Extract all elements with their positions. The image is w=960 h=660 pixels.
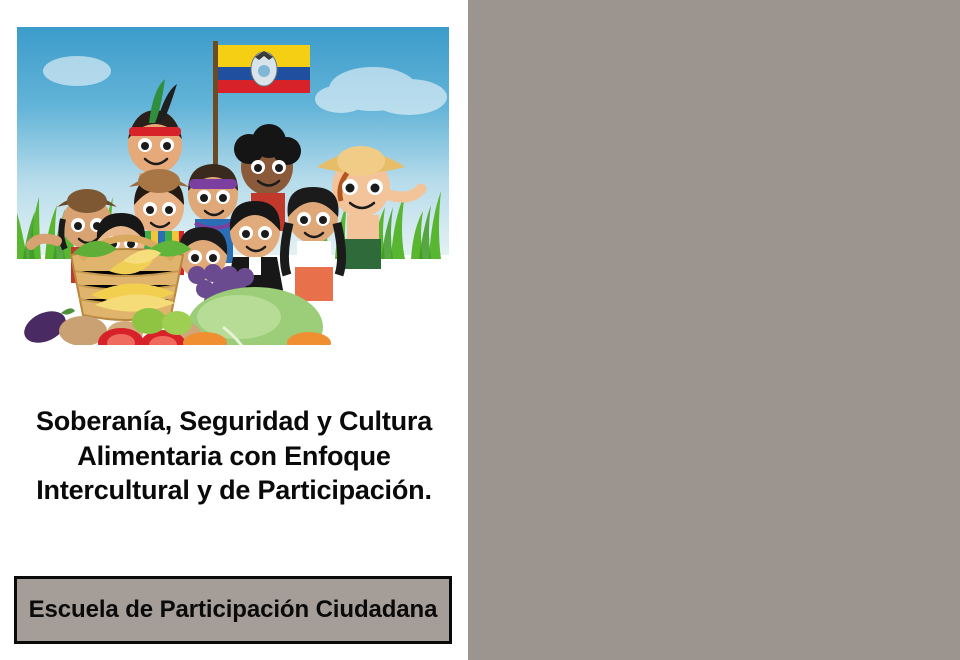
- left-panel: Soberanía, Seguridad y Cultura Alimentar…: [0, 0, 468, 660]
- illustration-svg: [17, 27, 449, 345]
- lime: [132, 308, 166, 334]
- escuela-participacion-label: Escuela de Participación Ciudadana: [29, 596, 438, 624]
- lime: [162, 311, 192, 335]
- poster-canvas: Soberanía, Seguridad y Cultura Alimentar…: [0, 0, 960, 660]
- illustration-children-food: [17, 27, 449, 345]
- escuela-participacion-box: Escuela de Participación Ciudadana: [14, 576, 452, 644]
- poster-main-title: Soberanía, Seguridad y Cultura Alimentar…: [28, 404, 440, 508]
- right-panel: m p MINISTERIO DE SALUD PÚBLICA CENTRO D…: [468, 0, 960, 660]
